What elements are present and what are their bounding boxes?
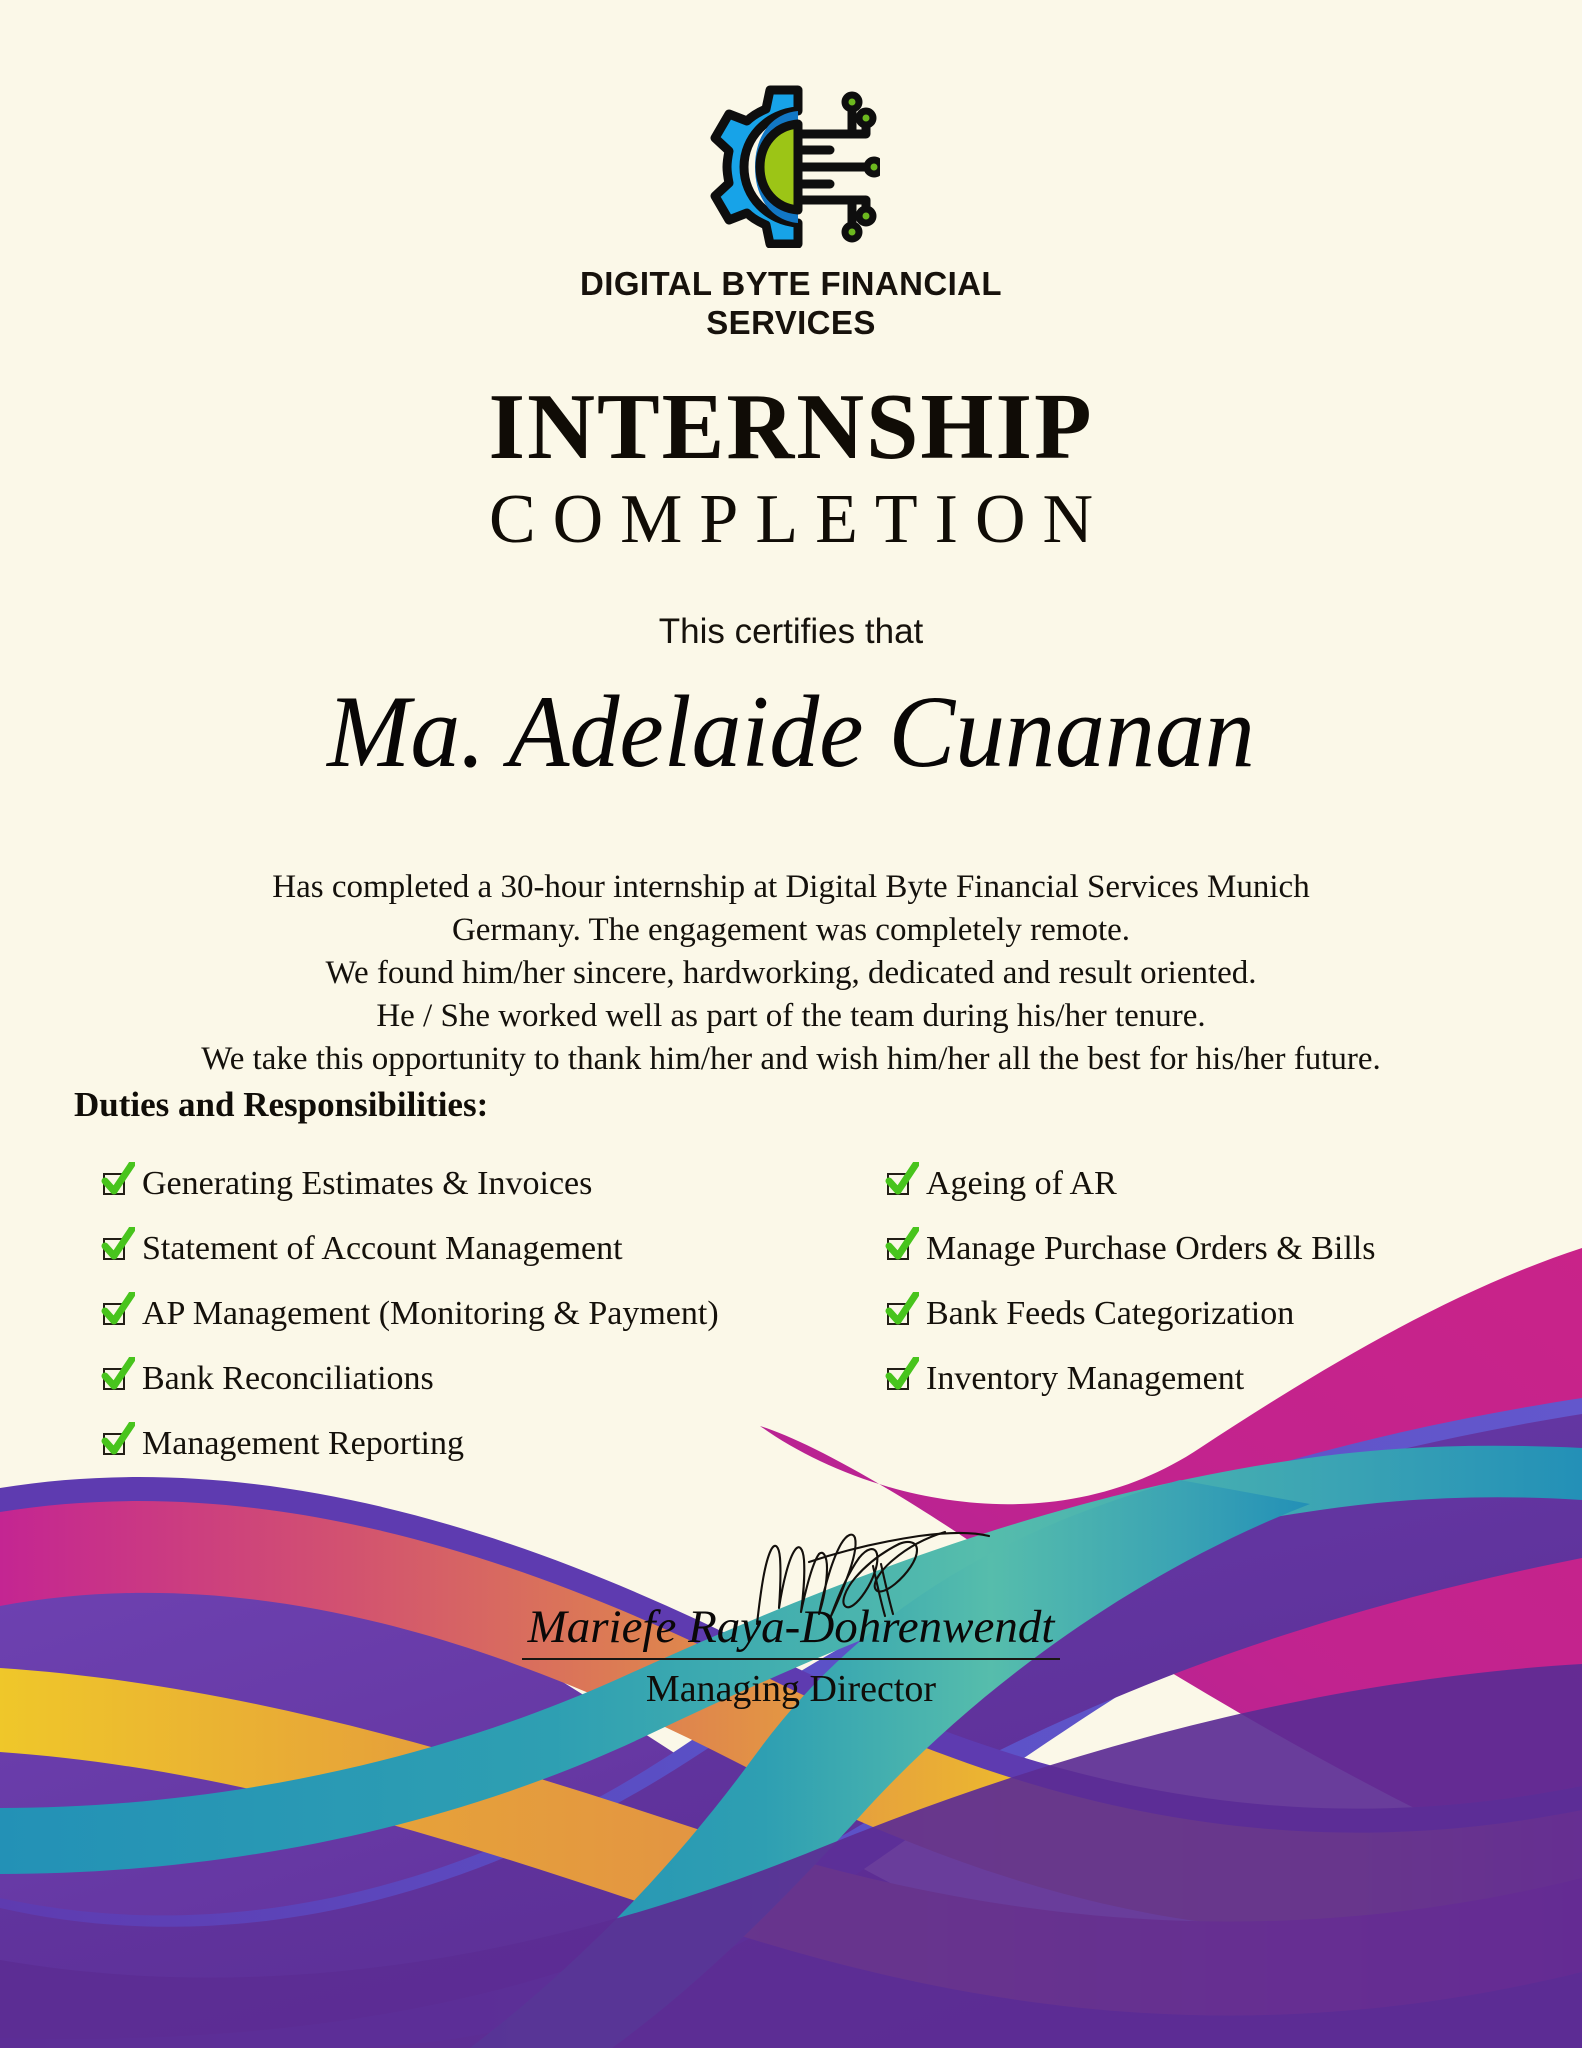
duty-label: Statement of Account Management	[132, 1228, 623, 1267]
duty-label: Management Reporting	[132, 1423, 464, 1462]
duty-item: Generating Estimates & Invoices	[102, 1163, 882, 1228]
checkmark-icon	[886, 1232, 916, 1264]
duties-column-left: Generating Estimates & Invoices Statemen…	[102, 1163, 882, 1488]
certificate-subtitle: COMPLETION	[0, 485, 1582, 555]
body-line: Germany. The engagement was completely r…	[0, 909, 1582, 952]
duty-label: Inventory Management	[916, 1358, 1244, 1397]
duty-item: Manage Purchase Orders & Bills	[886, 1228, 1526, 1293]
checkmark-icon	[102, 1297, 132, 1329]
duty-item: Inventory Management	[886, 1358, 1526, 1423]
body-paragraph: Has completed a 30-hour internship at Di…	[0, 866, 1582, 1080]
certificate-title: INTERNSHIP	[0, 380, 1582, 474]
logo-block	[0, 78, 1582, 253]
certificate-page: DIGITAL BYTE FINANCIAL SERVICES INTERNSH…	[0, 0, 1582, 2048]
duties-heading: Duties and Responsibilities:	[74, 1085, 488, 1125]
signature-block: Mariefe Raya-Dohrenwendt Managing Direct…	[0, 1528, 1582, 1711]
certifies-label: This certifies that	[0, 612, 1582, 652]
signature-name: Mariefe Raya-Dohrenwendt	[522, 1604, 1061, 1660]
company-name-line1: DIGITAL BYTE FINANCIAL	[0, 265, 1582, 304]
duty-label: Bank Feeds Categorization	[916, 1293, 1294, 1332]
checkmark-icon	[102, 1232, 132, 1264]
checkmark-icon	[102, 1362, 132, 1394]
checkmark-icon	[886, 1297, 916, 1329]
checkmark-icon	[886, 1167, 916, 1199]
duty-label: Ageing of AR	[916, 1163, 1117, 1202]
company-name-line2: SERVICES	[0, 304, 1582, 343]
duty-label: Manage Purchase Orders & Bills	[916, 1228, 1375, 1267]
checkmark-icon	[102, 1167, 132, 1199]
checkmark-icon	[886, 1362, 916, 1394]
duty-label: Generating Estimates & Invoices	[132, 1163, 592, 1202]
duty-item: Management Reporting	[102, 1423, 882, 1488]
duty-label: AP Management (Monitoring & Payment)	[132, 1293, 719, 1332]
duty-label: Bank Reconciliations	[132, 1358, 434, 1397]
duties-column-right: Ageing of AR Manage Purchase Orders & Bi…	[886, 1163, 1526, 1423]
body-line: We found him/her sincere, hardworking, d…	[0, 952, 1582, 995]
gear-circuit-logo	[702, 78, 880, 248]
body-line: Has completed a 30-hour internship at Di…	[0, 866, 1582, 909]
duty-item: Ageing of AR	[886, 1163, 1526, 1228]
signature-title: Managing Director	[0, 1667, 1582, 1711]
body-line: We take this opportunity to thank him/he…	[0, 1038, 1582, 1081]
body-line: He / She worked well as part of the team…	[0, 995, 1582, 1038]
checkmark-icon	[102, 1427, 132, 1459]
company-name: DIGITAL BYTE FINANCIAL SERVICES	[0, 265, 1582, 343]
duty-item: Bank Reconciliations	[102, 1358, 882, 1423]
recipient-name: Ma. Adelaide Cunanan	[24, 668, 1559, 797]
duty-item: AP Management (Monitoring & Payment)	[102, 1293, 882, 1358]
duty-item: Statement of Account Management	[102, 1228, 882, 1293]
duty-item: Bank Feeds Categorization	[886, 1293, 1526, 1358]
